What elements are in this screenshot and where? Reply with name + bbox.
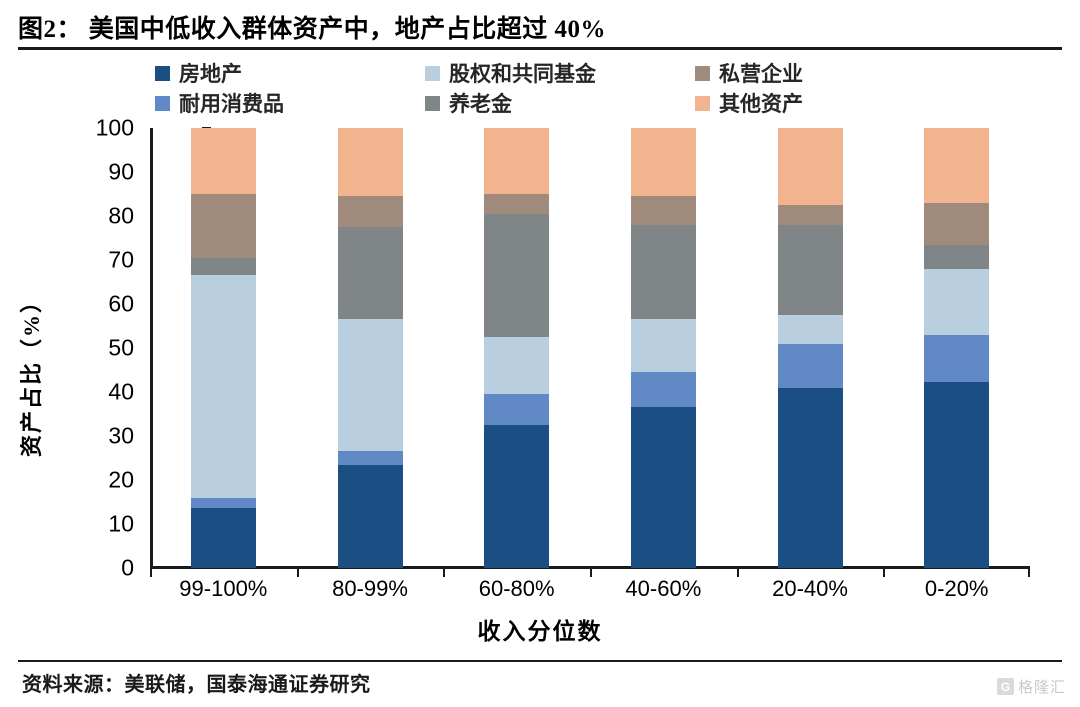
bar-segment-pension[interactable] [778, 225, 843, 315]
legend-swatch-pension [425, 96, 440, 111]
bar-segment-other_assets[interactable] [778, 128, 843, 205]
legend-label-other_assets: 其他资产 [719, 88, 803, 118]
figure-page: 图2： 美国中低收入群体资产中，地产占比超过 40% 房地产股权和共同基金私营企… [0, 0, 1080, 707]
bar-segment-private_business[interactable] [631, 196, 696, 225]
bar-segment-pension[interactable] [338, 227, 403, 319]
legend-label-durables: 耐用消费品 [179, 88, 284, 118]
legend-item-other_assets[interactable]: 其他资产 [695, 88, 955, 118]
legend-item-equity_funds[interactable]: 股权和共同基金 [425, 58, 695, 88]
legend-swatch-equity_funds [425, 66, 440, 81]
y-tick-label-0: 0 [54, 555, 134, 582]
bar-segment-durables[interactable] [631, 372, 696, 407]
bar-segment-real_estate[interactable] [631, 407, 696, 568]
bar-segment-pension[interactable] [484, 214, 549, 337]
page-title: 图2： 美国中低收入群体资产中，地产占比超过 40% [18, 9, 606, 45]
bar-segment-equity_funds[interactable] [338, 319, 403, 451]
x-tick-label-80-99%: 80-99% [297, 576, 444, 602]
y-tick-label-10: 10 [54, 511, 134, 538]
legend-label-equity_funds: 股权和共同基金 [449, 58, 596, 88]
stacked-bar[interactable] [338, 128, 403, 568]
y-axis-title: 资产占比（%） [14, 289, 46, 457]
bar-segment-real_estate[interactable] [484, 425, 549, 568]
bar-segment-durables[interactable] [191, 498, 256, 508]
bar-segment-real_estate[interactable] [778, 388, 843, 568]
legend-swatch-other_assets [695, 96, 710, 111]
stacked-bar[interactable] [924, 128, 989, 568]
x-axis-labels: 99-100%80-99%60-80%40-60%20-40%0-20% [150, 576, 1030, 602]
legend-label-pension: 养老金 [449, 88, 512, 118]
bar-segment-private_business[interactable] [778, 205, 843, 225]
y-tick-label-60: 60 [54, 291, 134, 318]
legend-label-private_business: 私营企业 [719, 58, 803, 88]
bar-segment-equity_funds[interactable] [778, 315, 843, 344]
stacked-bar[interactable] [631, 128, 696, 568]
bar-segment-real_estate[interactable] [924, 382, 989, 568]
stacked-bar[interactable] [484, 128, 549, 568]
bar-segment-equity_funds[interactable] [924, 269, 989, 335]
bar-segment-durables[interactable] [338, 451, 403, 465]
footer-divider [18, 660, 1062, 662]
stacked-bar[interactable] [191, 128, 256, 568]
legend-label-real_estate: 房地产 [179, 58, 242, 88]
y-tick-label-30: 30 [54, 423, 134, 450]
bar-slot-20-40% [737, 128, 884, 568]
bar-segment-durables[interactable] [484, 394, 549, 425]
watermark-text: 格隆汇 [1018, 676, 1066, 697]
y-tick-label-20: 20 [54, 467, 134, 494]
bar-segment-pension[interactable] [631, 225, 696, 320]
bar-segment-real_estate[interactable] [338, 465, 403, 568]
bar-segment-other_assets[interactable] [191, 128, 256, 194]
y-tick-label-80: 80 [54, 203, 134, 230]
stacked-bars [150, 128, 1030, 568]
legend-item-pension[interactable]: 养老金 [425, 88, 695, 118]
legend-swatch-real_estate [155, 66, 170, 81]
y-tick-label-100: 100 [54, 115, 134, 142]
chart-plot-area: 资产占比（%） 1009080706050403020100 99-100%80… [0, 118, 1080, 588]
chart-legend: 房地产股权和共同基金私营企业耐用消费品养老金其他资产 [155, 58, 955, 118]
figure-title-row: 图2： 美国中低收入群体资产中，地产占比超过 40% [18, 8, 1062, 46]
bar-segment-other_assets[interactable] [924, 128, 989, 203]
x-tick-label-99-100%: 99-100% [150, 576, 297, 602]
legend-swatch-private_business [695, 66, 710, 81]
x-tick-label-20-40%: 20-40% [737, 576, 884, 602]
bar-segment-durables[interactable] [778, 344, 843, 388]
bar-segment-other_assets[interactable] [631, 128, 696, 196]
y-axis-ticks: 1009080706050403020100 [60, 118, 150, 578]
watermark-badge-icon: G [997, 678, 1014, 695]
bar-slot-80-99% [297, 128, 444, 568]
legend-item-real_estate[interactable]: 房地产 [155, 58, 425, 88]
bar-slot-40-60% [590, 128, 737, 568]
x-tick-label-60-80%: 60-80% [443, 576, 590, 602]
bar-slot-0-20% [883, 128, 1030, 568]
legend-item-durables[interactable]: 耐用消费品 [155, 88, 425, 118]
bar-segment-pension[interactable] [924, 245, 989, 269]
bar-segment-real_estate[interactable] [191, 508, 256, 568]
bar-segment-private_business[interactable] [191, 194, 256, 258]
legend-item-private_business[interactable]: 私营企业 [695, 58, 955, 88]
y-tick-label-90: 90 [54, 159, 134, 186]
bar-segment-equity_funds[interactable] [484, 337, 549, 394]
watermark: G 格隆汇 [997, 676, 1066, 697]
x-tick-label-40-60%: 40-60% [590, 576, 737, 602]
bar-segment-private_business[interactable] [924, 203, 989, 245]
bar-segment-other_assets[interactable] [338, 128, 403, 196]
bar-segment-pension[interactable] [191, 258, 256, 276]
title-divider [18, 47, 1062, 50]
stacked-bar[interactable] [778, 128, 843, 568]
y-tick-label-40: 40 [54, 379, 134, 406]
y-tick-label-70: 70 [54, 247, 134, 274]
y-tick-label-50: 50 [54, 335, 134, 362]
bar-segment-other_assets[interactable] [484, 128, 549, 194]
bar-segment-durables[interactable] [924, 335, 989, 382]
bar-slot-99-100% [150, 128, 297, 568]
bar-segment-equity_funds[interactable] [631, 319, 696, 372]
legend-swatch-durables [155, 96, 170, 111]
bar-slot-60-80% [443, 128, 590, 568]
x-axis-title: 收入分位数 [0, 612, 1080, 646]
source-note: 资料来源：美联储，国泰海通证券研究 [22, 668, 371, 697]
x-tick-label-0-20%: 0-20% [883, 576, 1030, 602]
bar-segment-private_business[interactable] [338, 196, 403, 227]
bar-segment-equity_funds[interactable] [191, 275, 256, 498]
bar-segment-private_business[interactable] [484, 194, 549, 214]
